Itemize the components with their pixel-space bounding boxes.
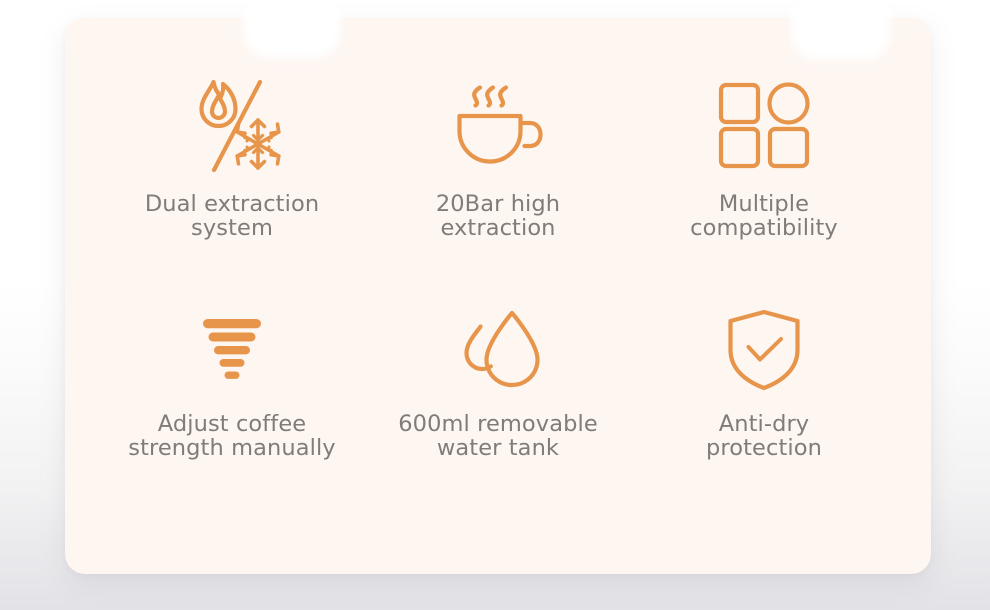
feature-item-adjust-strength: Adjust coffee strength manually xyxy=(99,300,365,530)
feature-item-anti-dry: Anti-dry protection xyxy=(631,300,897,530)
feature-grid: Dual extraction system 20B xyxy=(65,18,931,574)
flame-snowflake-icon xyxy=(168,70,296,182)
feature-item-dual-extraction: Dual extraction system xyxy=(99,70,365,300)
feature-label-dual-extraction: Dual extraction system xyxy=(145,192,319,240)
feature-item-high-extraction: 20Bar high extraction xyxy=(365,70,631,300)
page-root: Dual extraction system 20B xyxy=(0,0,990,610)
strength-bars-icon xyxy=(201,300,263,400)
feature-label-water-tank: 600ml removable water tank xyxy=(398,412,598,460)
coffee-cup-steam-icon xyxy=(444,70,552,182)
feature-item-multiple-compatibility: Multiple compatibility xyxy=(631,70,897,300)
water-drops-icon xyxy=(446,300,550,400)
feature-item-water-tank: 600ml removable water tank xyxy=(365,300,631,530)
feature-label-adjust-strength: Adjust coffee strength manually xyxy=(128,412,335,460)
card-top-notch-right xyxy=(791,6,891,60)
card-top-notch-left xyxy=(243,6,341,58)
feature-label-multiple-compatibility: Multiple compatibility xyxy=(690,192,838,240)
shield-check-icon xyxy=(725,300,803,400)
feature-label-anti-dry: Anti-dry protection xyxy=(706,412,822,460)
squares-circle-grid-icon xyxy=(715,70,813,182)
feature-card: Dual extraction system 20B xyxy=(65,18,931,574)
feature-label-high-extraction: 20Bar high extraction xyxy=(436,192,560,240)
